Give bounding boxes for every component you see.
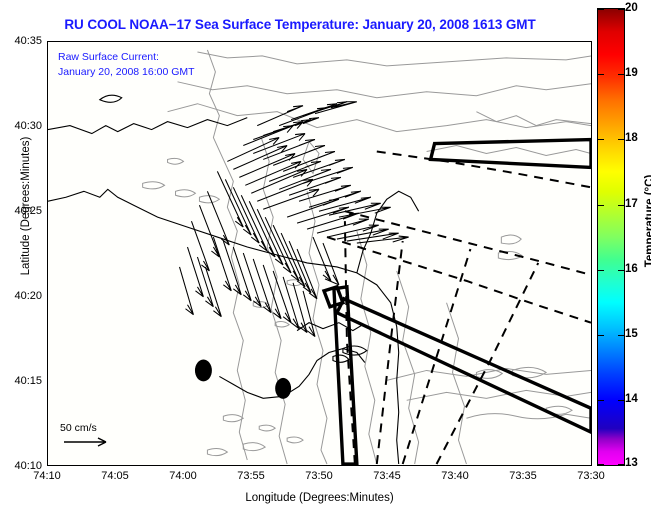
- station-marker-1: [195, 359, 212, 381]
- colorbar: [597, 8, 625, 466]
- colorbar-tick-mark-17-r: [618, 205, 625, 206]
- colorbar-tick-mark-19-r: [618, 74, 625, 75]
- colorbar-tick-mark-20-r: [618, 9, 625, 10]
- y-axis-label: Latitude (Degrees:Minutes): [20, 106, 32, 306]
- colorbar-tick-mark-14: [597, 400, 604, 401]
- colorbar-tick-mark-16: [597, 270, 604, 271]
- colorbar-tick-label-13: 13: [625, 457, 638, 469]
- xtick-4: 73:50: [294, 470, 344, 482]
- x-axis-label: Longitude (Degrees:Minutes): [47, 492, 592, 504]
- scale-legend: 50 cm/s: [60, 422, 116, 453]
- colorbar-tick-label-17: 17: [625, 198, 638, 210]
- coastline: [48, 95, 419, 464]
- station-marker-2: [275, 378, 291, 399]
- survey-polygons: [324, 140, 591, 464]
- ytick-4: 40:15: [0, 375, 42, 387]
- ytick-0: 40:35: [0, 35, 42, 47]
- right-arrow-icon: [60, 434, 116, 450]
- xtick-7: 73:35: [498, 470, 548, 482]
- xtick-0: 74:10: [22, 470, 72, 482]
- page-title: RU COOL NOAA−17 Sea Surface Temperature:…: [0, 17, 600, 32]
- xtick-2: 74:00: [158, 470, 208, 482]
- survey-box-central: [337, 299, 591, 432]
- colorbar-tick-mark-13-r: [618, 464, 625, 465]
- map-plot-area: Raw Surface Current: January 20, 2008 16…: [47, 41, 592, 466]
- xtick-6: 73:40: [430, 470, 480, 482]
- colorbar-tick-mark-15-r: [618, 335, 625, 336]
- colorbar-tick-mark-13: [597, 464, 604, 465]
- colorbar-tick-mark-20: [597, 9, 604, 10]
- colorbar-tick-mark-15: [597, 335, 604, 336]
- colorbar-tick-label-14: 14: [625, 393, 638, 405]
- colorbar-tick-mark-16-r: [618, 270, 625, 271]
- colorbar-tick-mark-18: [597, 139, 604, 140]
- xtick-5: 73:45: [362, 470, 412, 482]
- scale-legend-label: 50 cm/s: [60, 422, 116, 434]
- colorbar-tick-mark-14-r: [618, 400, 625, 401]
- xtick-3: 73:55: [226, 470, 276, 482]
- colorbar-tick-mark-18-r: [618, 139, 625, 140]
- colorbar-tick-label-19: 19: [625, 67, 638, 79]
- xtick-1: 74:05: [90, 470, 140, 482]
- colorbar-tick-label-16: 16: [625, 263, 638, 275]
- colorbar-tick-mark-17: [597, 205, 604, 206]
- colorbar-tick-label-15: 15: [625, 328, 638, 340]
- colorbar-tick-label-18: 18: [625, 132, 638, 144]
- colorbar-label: Temperature (°C): [644, 131, 651, 311]
- colorbar-tick-mark-19: [597, 74, 604, 75]
- xtick-8: 73:30: [566, 470, 616, 482]
- map-canvas: [48, 42, 591, 465]
- colorbar-tick-label-20: 20: [625, 2, 638, 14]
- survey-box-north: [431, 140, 591, 168]
